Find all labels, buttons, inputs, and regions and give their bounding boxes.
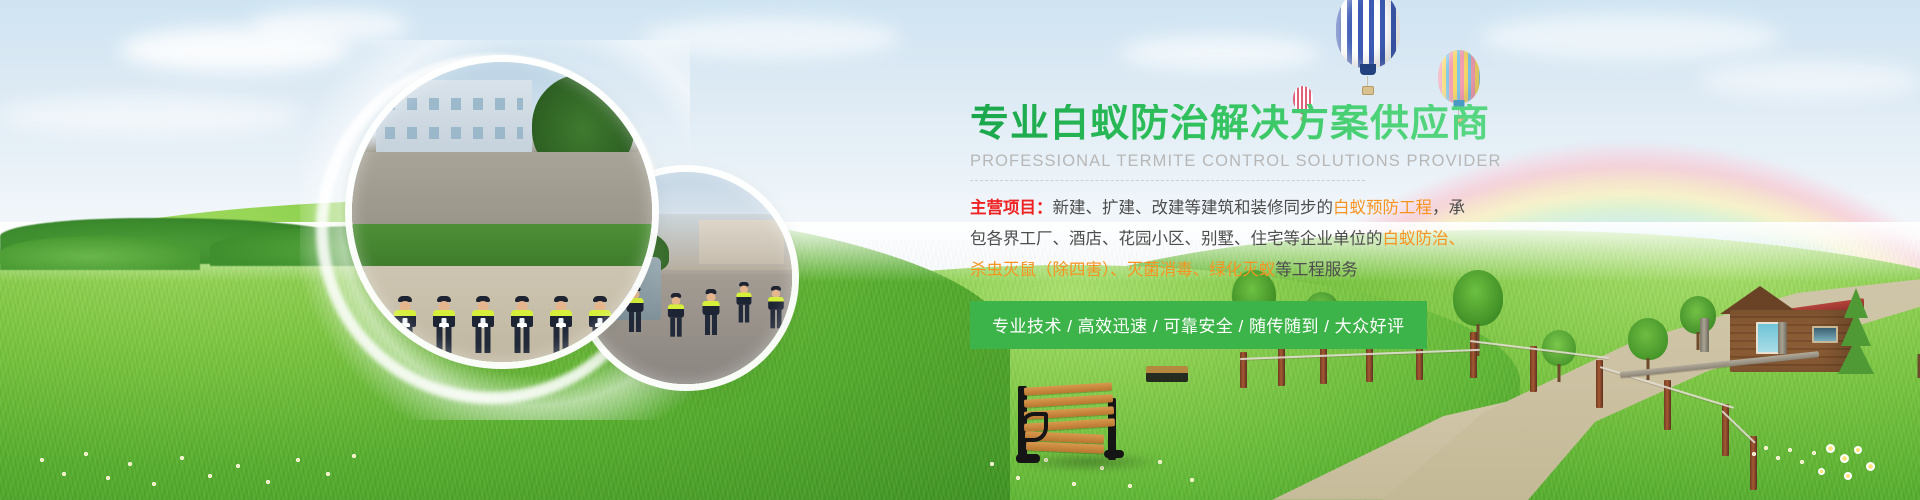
round-tree (1680, 296, 1716, 350)
desc-line3-accent-a: 灭鼠（除四害）、灭菌消毒、绿化灭蚁 (1003, 261, 1275, 279)
feature-tag-bar: 专业技术 / 高效迅速 / 可靠安全 / 随传随到 / 大众好评 (970, 301, 1427, 349)
fence-post (1320, 344, 1327, 384)
cloud-icon (0, 96, 300, 136)
park-bench (1012, 380, 1140, 470)
cloud-icon (250, 10, 410, 42)
hero-banner: 专业白蚁防治解决方案供应商 PROFESSIONAL TERMITE CONTR… (0, 0, 1920, 500)
hot-air-balloon-icon (1438, 50, 1480, 103)
service-description: 主营项目：新建、扩建、改建等建筑和装修同步的白蚁预防工程，承包各界工厂、酒店、花… (970, 193, 1480, 286)
divider (970, 180, 1365, 181)
fence-post (1700, 318, 1709, 352)
round-tree (1896, 308, 1920, 378)
cloud-icon (640, 18, 900, 58)
desc-line3-plain-a: 等工程服务 (1275, 261, 1358, 279)
service-label: 主营项目 (970, 199, 1036, 217)
pest-control-team-lineup-photo (352, 62, 652, 362)
photo-collage (352, 62, 772, 392)
desc-line2-plain-a: 各界工厂、酒店、花园小区、别墅、住宅等企业单位的 (987, 230, 1383, 248)
fence-post (1530, 346, 1537, 392)
page-title: 专业白蚁防治解决方案供应商 (970, 104, 1530, 143)
page-subtitle: PROFESSIONAL TERMITE CONTROL SOLUTIONS P… (970, 152, 1530, 171)
service-label-colon: ： (1036, 199, 1053, 217)
hot-air-balloon-icon (1336, 0, 1400, 68)
desc-line1-plain-a: 新建、扩建、改建等建筑和装修同步的 (1053, 199, 1334, 217)
cloud-icon (1480, 14, 1780, 60)
cloud-icon (1700, 62, 1920, 98)
bush-cluster (0, 236, 200, 270)
fence-post (1778, 322, 1787, 354)
fence-post (1278, 348, 1285, 386)
distant-bench (1146, 366, 1188, 382)
cloud-icon (1120, 36, 1320, 70)
round-tree (1542, 330, 1576, 382)
hero-text-block: 专业白蚁防治解决方案供应商 PROFESSIONAL TERMITE CONTR… (970, 104, 1530, 349)
fence-post (1750, 436, 1757, 490)
desc-line1-accent-a: 白蚁预防工程 (1333, 199, 1432, 217)
